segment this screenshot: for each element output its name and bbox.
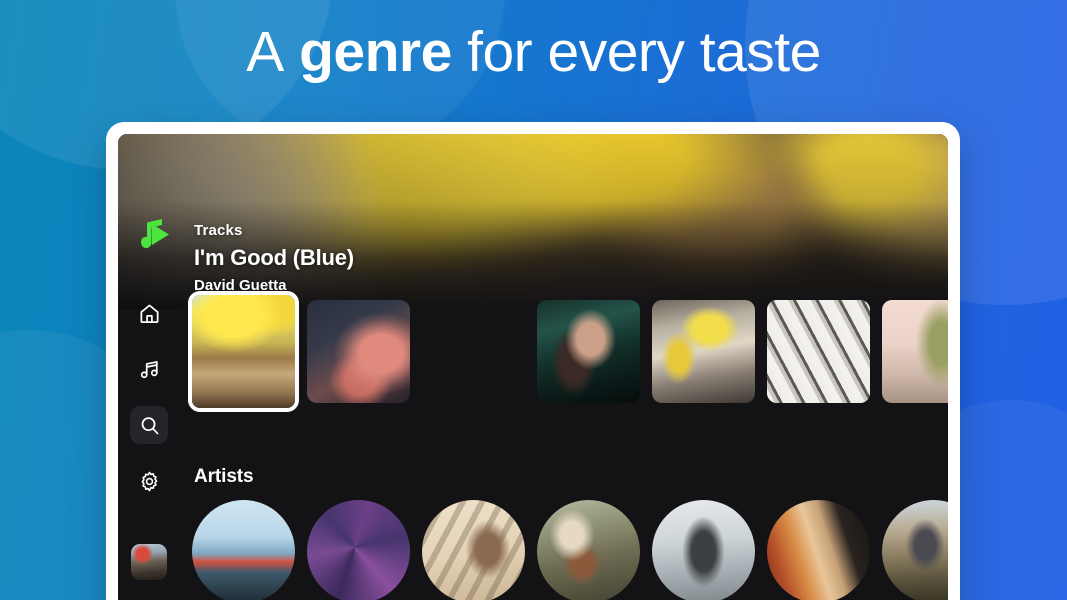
sidebar-item-home[interactable]	[130, 294, 168, 332]
artist-avatar	[767, 500, 870, 600]
artist-avatar	[422, 500, 525, 600]
artist-avatar	[537, 500, 640, 600]
page-headline: A genre for every taste	[0, 14, 1067, 90]
track-card[interactable]	[188, 291, 299, 412]
search-icon	[138, 414, 161, 437]
artist-avatar	[192, 500, 295, 600]
section-artists: Artists	[192, 466, 948, 600]
artist-card[interactable]	[307, 500, 410, 600]
app-window-frame: Tracks I'm Good (Blue) David Guetta	[106, 122, 960, 600]
music-note-icon	[138, 358, 161, 381]
track-artwork	[767, 300, 870, 403]
artist-card[interactable]	[767, 500, 870, 600]
home-icon	[138, 302, 161, 325]
music-app: Tracks I'm Good (Blue) David Guetta	[118, 134, 948, 600]
artist-card[interactable]	[652, 500, 755, 600]
track-card[interactable]	[882, 300, 948, 403]
track-artwork	[537, 300, 640, 403]
artist-avatar	[882, 500, 948, 600]
sidebar-item-search[interactable]	[130, 406, 168, 444]
avatar[interactable]	[131, 544, 167, 580]
track-card[interactable]	[537, 300, 640, 403]
sidebar-item-settings[interactable]	[130, 462, 168, 500]
headline-emphasis: genre	[299, 14, 452, 90]
artist-avatar	[307, 500, 410, 600]
artist-avatar	[652, 500, 755, 600]
section-tracks	[192, 300, 948, 412]
headline-part-2: for every taste	[467, 14, 821, 90]
track-artwork	[422, 300, 525, 403]
track-artwork	[192, 295, 295, 408]
track-artwork	[307, 300, 410, 403]
sidebar-item-music[interactable]	[130, 350, 168, 388]
artists-strip[interactable]	[192, 500, 948, 600]
track-card[interactable]	[652, 300, 755, 403]
track-card[interactable]	[307, 300, 410, 403]
track-card[interactable]	[767, 300, 870, 403]
gear-icon	[138, 470, 161, 493]
artist-card[interactable]	[882, 500, 948, 600]
artist-card[interactable]	[192, 500, 295, 600]
track-artwork	[652, 300, 755, 403]
artists-section-title: Artists	[194, 466, 948, 488]
tracks-strip[interactable]	[192, 300, 948, 412]
app-content: Artists	[180, 134, 948, 600]
track-artwork	[882, 300, 948, 403]
headline-part-1: A	[246, 14, 284, 90]
sidebar-nav	[118, 134, 180, 600]
artist-card[interactable]	[422, 500, 525, 600]
artist-card[interactable]	[537, 500, 640, 600]
track-card[interactable]	[422, 300, 525, 403]
